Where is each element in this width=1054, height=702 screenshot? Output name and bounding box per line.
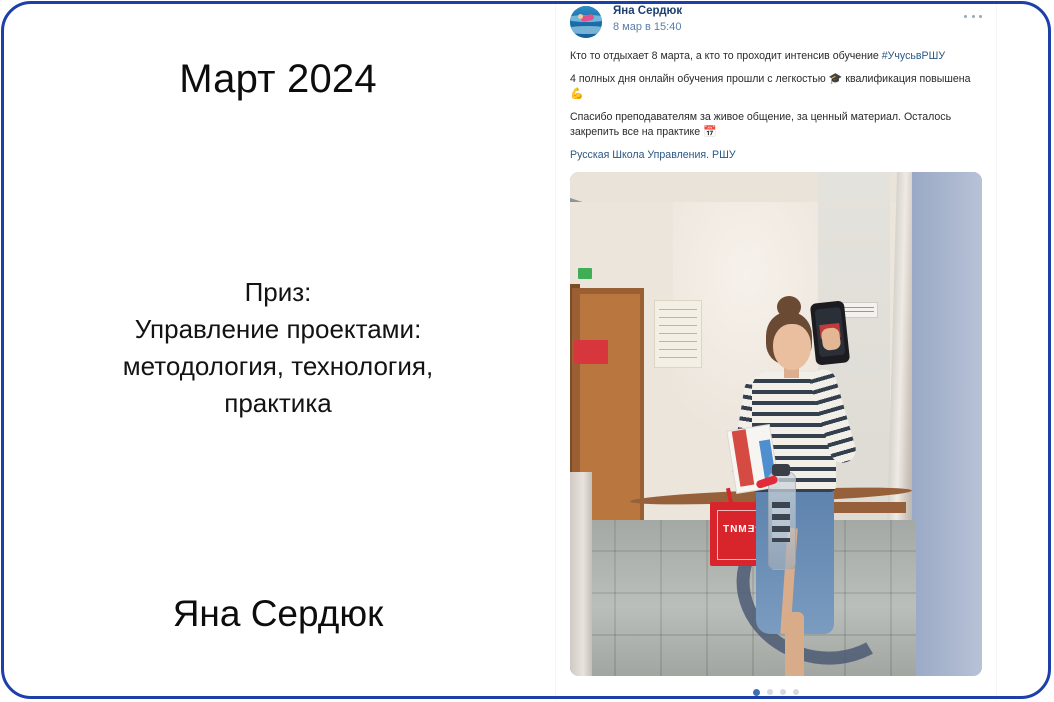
poster-line <box>659 357 697 358</box>
carousel-dots <box>556 687 996 697</box>
blue-wall <box>912 172 982 676</box>
muscle-emoji: 💪 <box>570 88 584 100</box>
hair-bun <box>777 296 801 318</box>
mirror-left-edge <box>570 472 592 676</box>
avatar[interactable] <box>570 6 602 38</box>
poster-line <box>659 317 697 318</box>
dot <box>964 15 967 18</box>
dot <box>979 15 982 18</box>
carousel-dot-4[interactable] <box>793 689 799 695</box>
calendar-emoji: 📅 <box>703 126 717 138</box>
leg <box>785 612 804 676</box>
carousel-dot-2[interactable] <box>767 689 773 695</box>
post-text-part: квалификация повышена <box>842 73 970 85</box>
poster-line <box>659 341 697 342</box>
post-author-name[interactable]: Яна Сердюк <box>613 4 682 19</box>
avatar-wave <box>570 26 602 34</box>
left-text-column: Март 2024 Приз: Управление проектами: ме… <box>0 0 556 702</box>
more-horizontal-icon[interactable] <box>964 14 982 19</box>
post-text-part: Кто то отдыхает 8 марта, а кто то проход… <box>570 50 882 62</box>
prize-line-2: Управление проектами: <box>40 311 516 348</box>
post-paragraph-3: Спасибо преподавателям за живое общение,… <box>570 110 982 141</box>
bottle-strap <box>772 502 790 542</box>
wall-poster <box>654 300 702 368</box>
prize-line-3: методология, технология, <box>40 348 516 385</box>
post-author-block: Яна Сердюк 8 мар в 15:40 <box>613 4 682 35</box>
bottle-cap <box>772 464 790 476</box>
presentation-slide: Март 2024 Приз: Управление проектами: ме… <box>0 0 1054 702</box>
graduation-emoji: 🎓 <box>829 73 843 85</box>
dot <box>972 15 975 18</box>
post-header: Яна Сердюк 8 мар в 15:40 <box>570 4 982 42</box>
photo-scene: РЕМИТ <box>570 172 982 676</box>
poster-line <box>659 333 697 334</box>
avatar-figure-head <box>578 14 583 19</box>
prize-description: Приз: Управление проектами: методология,… <box>40 274 516 422</box>
post-paragraph-4: Русская Школа Управления. РШУ <box>570 148 982 164</box>
face <box>773 324 811 370</box>
page-link[interactable]: Русская Школа Управления. РШУ <box>570 149 736 161</box>
hashtag-link[interactable]: #УчусьвРШУ <box>882 50 945 62</box>
exit-sign <box>578 268 592 279</box>
post-text: Кто то отдыхает 8 марта, а кто то проход… <box>570 49 982 163</box>
poster-line <box>659 309 697 310</box>
poster-line <box>659 349 697 350</box>
post-text-part: 4 полных дня онлайн обучения прошли с ле… <box>570 73 829 85</box>
post-timestamp[interactable]: 8 мар в 15:40 <box>613 20 682 35</box>
prize-line-1: Приз: <box>40 274 516 311</box>
post-paragraph-2: 4 полных дня онлайн обучения прошли с ле… <box>570 72 982 103</box>
prize-line-4: практика <box>40 385 516 422</box>
hand-holding-phone <box>821 327 842 351</box>
carousel-dot-3[interactable] <box>780 689 786 695</box>
post-text-part: Спасибо преподавателям за живое общение,… <box>570 111 951 139</box>
poster-line <box>659 325 697 326</box>
page-title: Март 2024 <box>0 56 556 102</box>
post-photo[interactable]: РЕМИТ <box>570 172 982 676</box>
post-paragraph-1: Кто то отдыхает 8 марта, а кто то проход… <box>570 49 982 65</box>
red-sign <box>574 340 608 364</box>
carousel-dot-1[interactable] <box>753 689 760 696</box>
winner-name: Яна Сердюк <box>0 593 556 636</box>
social-post-card: Яна Сердюк 8 мар в 15:40 Кто то отдыхает… <box>556 0 996 702</box>
